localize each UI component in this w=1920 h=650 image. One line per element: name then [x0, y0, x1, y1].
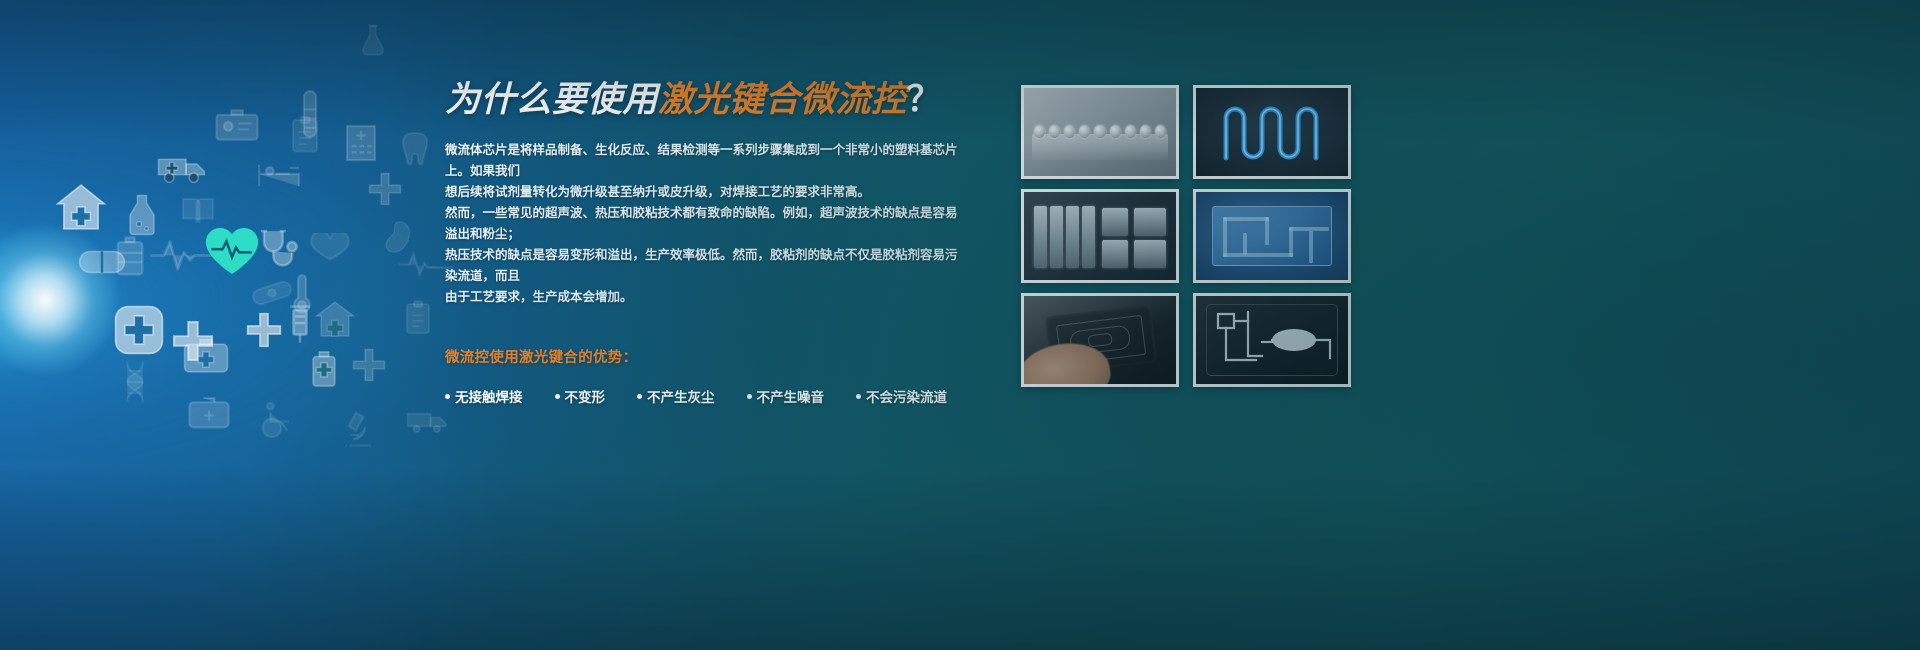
advantages-list: 无接触焊接 不变形 不产生灰尘 不产生噪音 不会污染流道	[445, 386, 975, 406]
list-item-label: 不变形	[565, 386, 606, 406]
photo-black-chip-with-oval-chamber[interactable]	[1193, 293, 1351, 387]
bullet-dot-icon	[555, 394, 560, 399]
bullet-dot-icon	[856, 394, 861, 399]
list-item: 不会污染流道	[856, 386, 947, 406]
photo-clear-microfluidic-chip-with-wells[interactable]	[1021, 85, 1179, 179]
product-photo-grid	[1021, 85, 1351, 387]
photo-black-flexible-chip-in-hand[interactable]	[1021, 293, 1179, 387]
paragraph-line: 热压技术的缺点是容易变形和溢出，生产效率极低。然而，胶粘剂的缺点不仅是胶粘剂容易…	[445, 245, 965, 287]
list-item-label: 无接触焊接	[455, 386, 523, 406]
list-item-label: 不产生噪音	[757, 386, 825, 406]
advantages-heading: 微流控使用激光键合的优势：	[445, 346, 975, 367]
paragraph-line: 由于工艺要求，生产成本会增加。	[445, 287, 965, 308]
headline-lead: 为什么要使用	[445, 80, 658, 119]
list-item-label: 不产生灰尘	[647, 386, 715, 406]
page-title: 为什么要使用激光键合微流控？	[445, 78, 975, 122]
photo-blue-transparent-manifold-block[interactable]	[1193, 189, 1351, 283]
photo-dark-chip-with-blue-serpentine-channel[interactable]	[1193, 85, 1351, 179]
list-item-label: 不会污染流道	[866, 386, 947, 406]
list-item: 不产生灰尘	[637, 386, 715, 406]
photo-clear-rectangular-chip-array[interactable]	[1021, 189, 1179, 283]
list-item: 不变形	[555, 386, 606, 406]
bullet-dot-icon	[637, 394, 642, 399]
copy-block: 为什么要使用激光键合微流控？ 微流体芯片是将样品制备、生化反应、结果检测等一系列…	[445, 78, 975, 406]
list-item: 不产生噪音	[747, 386, 825, 406]
headline-suffix: ？	[907, 80, 943, 119]
promo-banner: 为什么要使用激光键合微流控？ 微流体芯片是将样品制备、生化反应、结果检测等一系列…	[0, 0, 1920, 650]
bullet-dot-icon	[445, 394, 450, 399]
headline-highlight: 激光键合微流控	[658, 80, 907, 119]
body-copy: 微流体芯片是将样品制备、生化反应、结果检测等一系列步骤集成到一个非常小的塑料基芯…	[445, 140, 965, 308]
list-item: 无接触焊接	[445, 386, 523, 406]
paragraph-line: 然而，一些常见的超声波、热压和胶粘技术都有致命的缺陷。例如，超声波技术的缺点是容…	[445, 203, 965, 245]
paragraph-line: 想后续将试剂量转化为微升级甚至纳升或皮升级，对焊接工艺的要求非常高。	[445, 182, 965, 203]
paragraph-line: 微流体芯片是将样品制备、生化反应、结果检测等一系列步骤集成到一个非常小的塑料基芯…	[445, 140, 965, 182]
bullet-dot-icon	[747, 394, 752, 399]
